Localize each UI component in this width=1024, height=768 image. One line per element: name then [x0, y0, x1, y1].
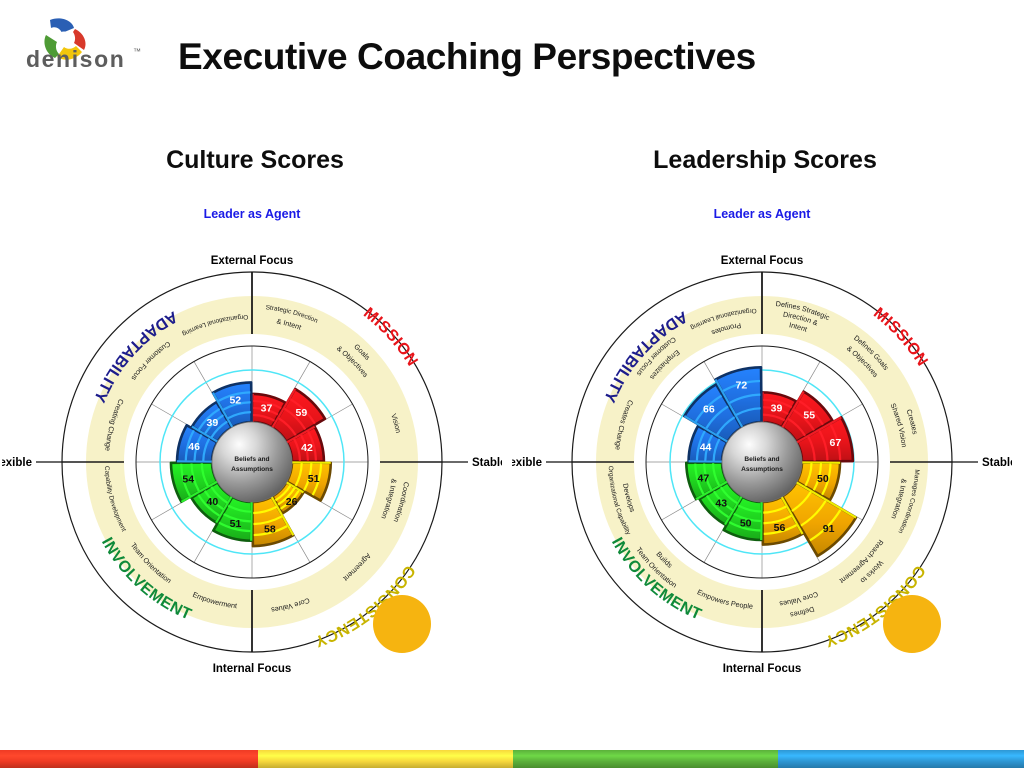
footer-segment-green [513, 750, 778, 768]
culture-score-value: 26 [286, 496, 298, 508]
culture-score-value: 58 [264, 523, 276, 535]
leadership-score-value: 72 [736, 380, 748, 392]
leadership-axis-bottom: Internal Focus [723, 663, 802, 675]
leadership-score-value: 50 [817, 473, 829, 485]
culture-scores-heading: Culture Scores [60, 146, 450, 175]
culture-score-value: 51 [230, 518, 242, 530]
footer-color-bar [0, 750, 1024, 768]
leadership-core-label-1: Beliefs and [744, 456, 779, 463]
leadership-axis-right: Stable [982, 457, 1012, 469]
culture-score-value: 52 [229, 394, 241, 406]
leadership-score-value: 44 [700, 441, 712, 453]
culture-orange-dot [373, 595, 431, 653]
leadership-score-value: 50 [740, 517, 752, 529]
leadership-core-label-2: Assumptions [741, 466, 783, 473]
culture-score-value: 39 [207, 417, 219, 429]
logo-trademark-icon: ™ [133, 47, 141, 56]
culture-axis-top: External Focus [211, 255, 293, 267]
leadership-scores-heading: Leadership Scores [570, 146, 960, 175]
footer-segment-yellow [258, 750, 513, 768]
leadership-score-value: 91 [823, 523, 835, 535]
leadership-score-value: 43 [715, 497, 727, 509]
leadership-axis-top: External Focus [721, 255, 803, 267]
culture-score-value: 54 [182, 474, 194, 486]
denison-logo-svg: denison ™ [18, 12, 148, 74]
culture-svg: Strategic Direction& IntentGoals& Object… [2, 196, 502, 696]
culture-circumplex-chart: Strategic Direction& IntentGoals& Object… [2, 196, 502, 696]
culture-axis-right: Stable [472, 457, 502, 469]
culture-score-value: 46 [188, 441, 200, 453]
culture-score-value: 42 [301, 442, 313, 454]
leadership-score-value: 66 [703, 403, 715, 415]
leadership-circumplex-chart: Defines StrategicDirection &IntentDefine… [512, 196, 1012, 696]
leadership-agent-label: Leader as Agent [714, 207, 812, 221]
culture-axis-left: Flexible [2, 457, 32, 469]
leadership-score-value: 55 [803, 409, 815, 421]
culture-axis-bottom: Internal Focus [213, 663, 292, 675]
culture-core-label-2: Assumptions [231, 466, 273, 473]
leadership-axis-left: Flexible [512, 457, 542, 469]
leadership-score-value: 56 [774, 522, 786, 534]
leadership-svg: Defines StrategicDirection &IntentDefine… [512, 196, 1012, 696]
leadership-score-value: 67 [829, 437, 841, 449]
denison-logo: denison ™ [18, 12, 148, 74]
culture-core-label-1: Beliefs and [234, 456, 269, 463]
culture-agent-label: Leader as Agent [204, 207, 302, 221]
footer-segment-red [0, 750, 258, 768]
leadership-score-value: 39 [771, 403, 783, 415]
culture-score-value: 59 [296, 407, 308, 419]
footer-segment-blue [778, 750, 1024, 768]
page-title: Executive Coaching Perspectives [178, 36, 898, 78]
culture-score-value: 40 [207, 496, 219, 508]
leadership-score-value: 47 [698, 472, 710, 484]
leadership-orange-dot [883, 595, 941, 653]
logo-wordmark: denison [26, 46, 125, 72]
culture-score-value: 37 [261, 403, 273, 415]
culture-score-value: 51 [308, 473, 320, 485]
